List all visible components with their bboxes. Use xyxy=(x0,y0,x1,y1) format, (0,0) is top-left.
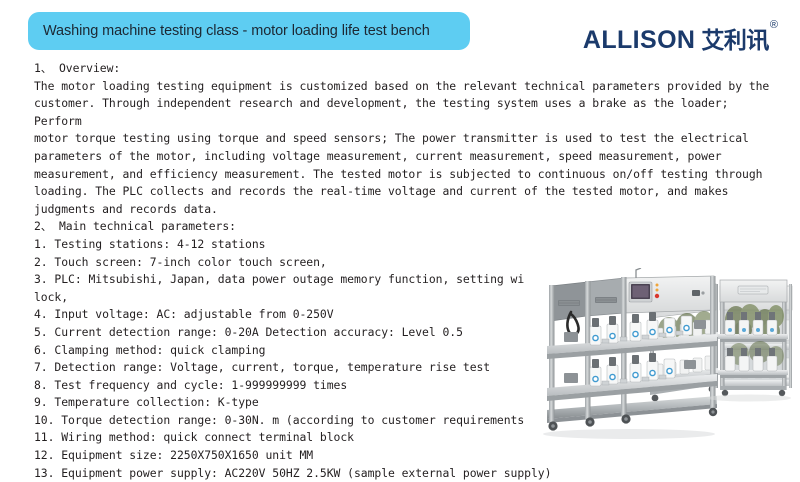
title-banner: Washing machine testing class - motor lo… xyxy=(28,12,470,50)
page-header: Washing machine testing class - motor lo… xyxy=(0,0,800,62)
logo-wordmark: ALLISON xyxy=(583,28,696,53)
company-logo: ALLISON 艾利讯 ® xyxy=(583,23,778,53)
spec-line: 1. Testing stations: 4-12 stations xyxy=(34,236,782,254)
spec-line: judgments and records data. xyxy=(34,201,782,219)
spec-line: 1、 Overview: xyxy=(34,60,782,78)
spec-line: 2、 Main technical parameters: xyxy=(34,218,782,236)
spec-line: 13. Equipment power supply: AC220V 50HZ … xyxy=(34,465,782,482)
spec-line: The motor loading testing equipment is c… xyxy=(34,78,782,96)
spec-line: measurement, and efficiency measurement.… xyxy=(34,166,782,184)
logo-chinese-name: 艾利讯 xyxy=(701,30,769,53)
page-title: Washing machine testing class - motor lo… xyxy=(43,23,430,39)
spec-line: parameters of the motor, including volta… xyxy=(34,148,782,166)
product-photo xyxy=(524,268,796,448)
spec-line: loading. The PLC collects and records th… xyxy=(34,183,782,201)
spec-line: customer. Through independent research a… xyxy=(34,95,782,130)
registered-trademark-icon: ® xyxy=(770,20,778,31)
spec-line: motor torque testing using torque and sp… xyxy=(34,130,782,148)
